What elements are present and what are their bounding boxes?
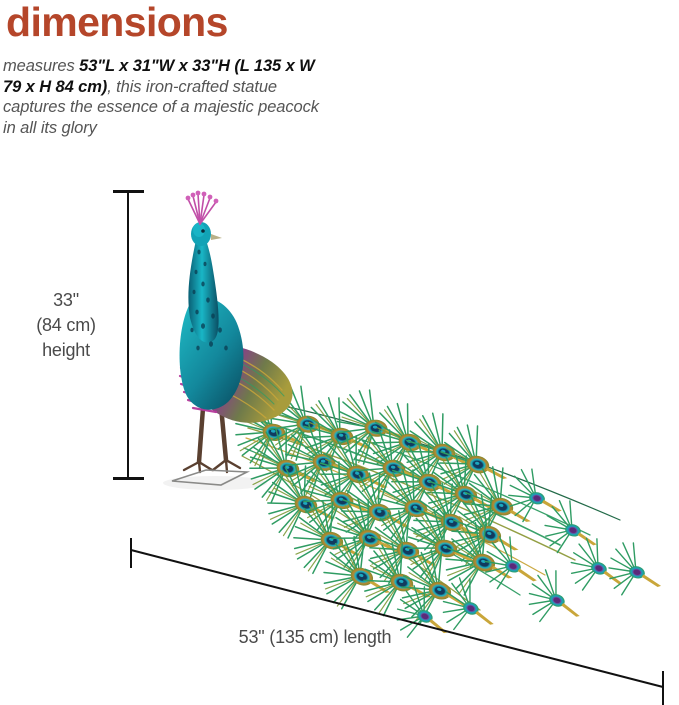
height-cap-bottom (113, 477, 144, 480)
height-metric: (84 cm) (16, 313, 116, 338)
height-cap-top (113, 190, 144, 193)
dimensions-infographic: dimensions measures 53"L x 31"W x 33"H (… (0, 0, 679, 705)
height-label: 33" (84 cm) height (16, 288, 116, 363)
eye (201, 229, 205, 233)
length-label: 53" (135 cm) length (150, 627, 480, 648)
height-caption: height (16, 338, 116, 363)
height-value: 33" (16, 288, 116, 313)
crest-tips (186, 191, 219, 204)
beak (211, 234, 222, 240)
height-dimension-line (127, 191, 129, 479)
length-dimension-line (131, 550, 663, 688)
